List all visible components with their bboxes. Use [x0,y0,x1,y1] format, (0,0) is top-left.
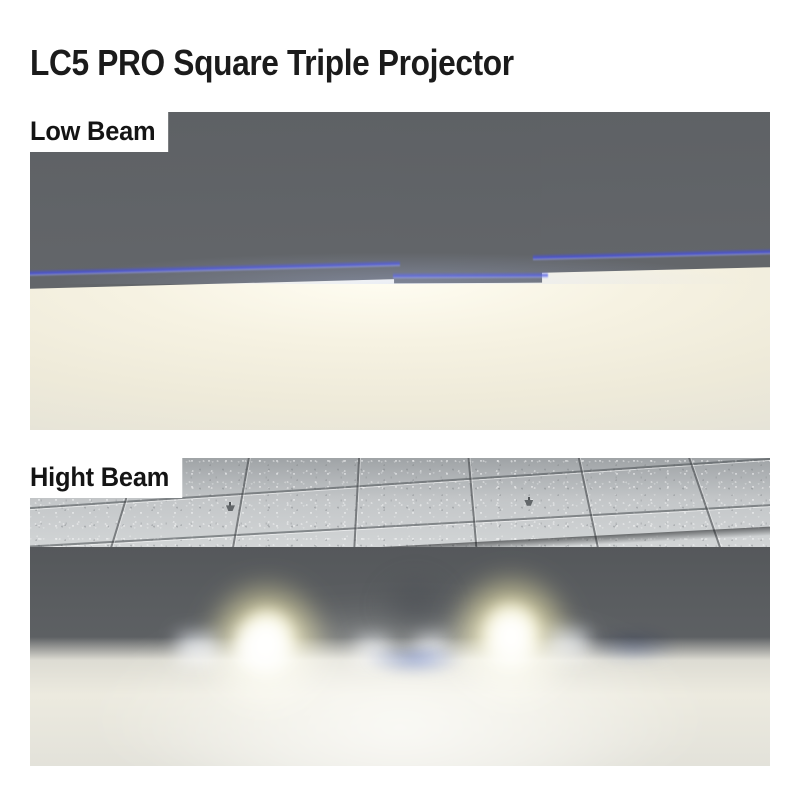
high-beam-photo [30,458,770,766]
sprinkler-deflector [524,500,533,506]
high-beam-lower-wash [30,637,770,766]
cutoff-blue-fringe [393,272,548,280]
low-beam-pattern [30,265,770,430]
high-beam-badge: Hight Beam [30,458,182,498]
panel-divider [0,430,800,458]
cutoff-mask-center [392,112,542,283]
low-beam-photo [30,112,770,430]
sprinkler-deflector [226,505,235,511]
sprinkler-head [524,497,533,507]
page-title: LC5 PRO Square Triple Projector [30,44,514,82]
sprinkler-head [226,502,235,512]
low-beam-badge: Low Beam [30,112,169,152]
